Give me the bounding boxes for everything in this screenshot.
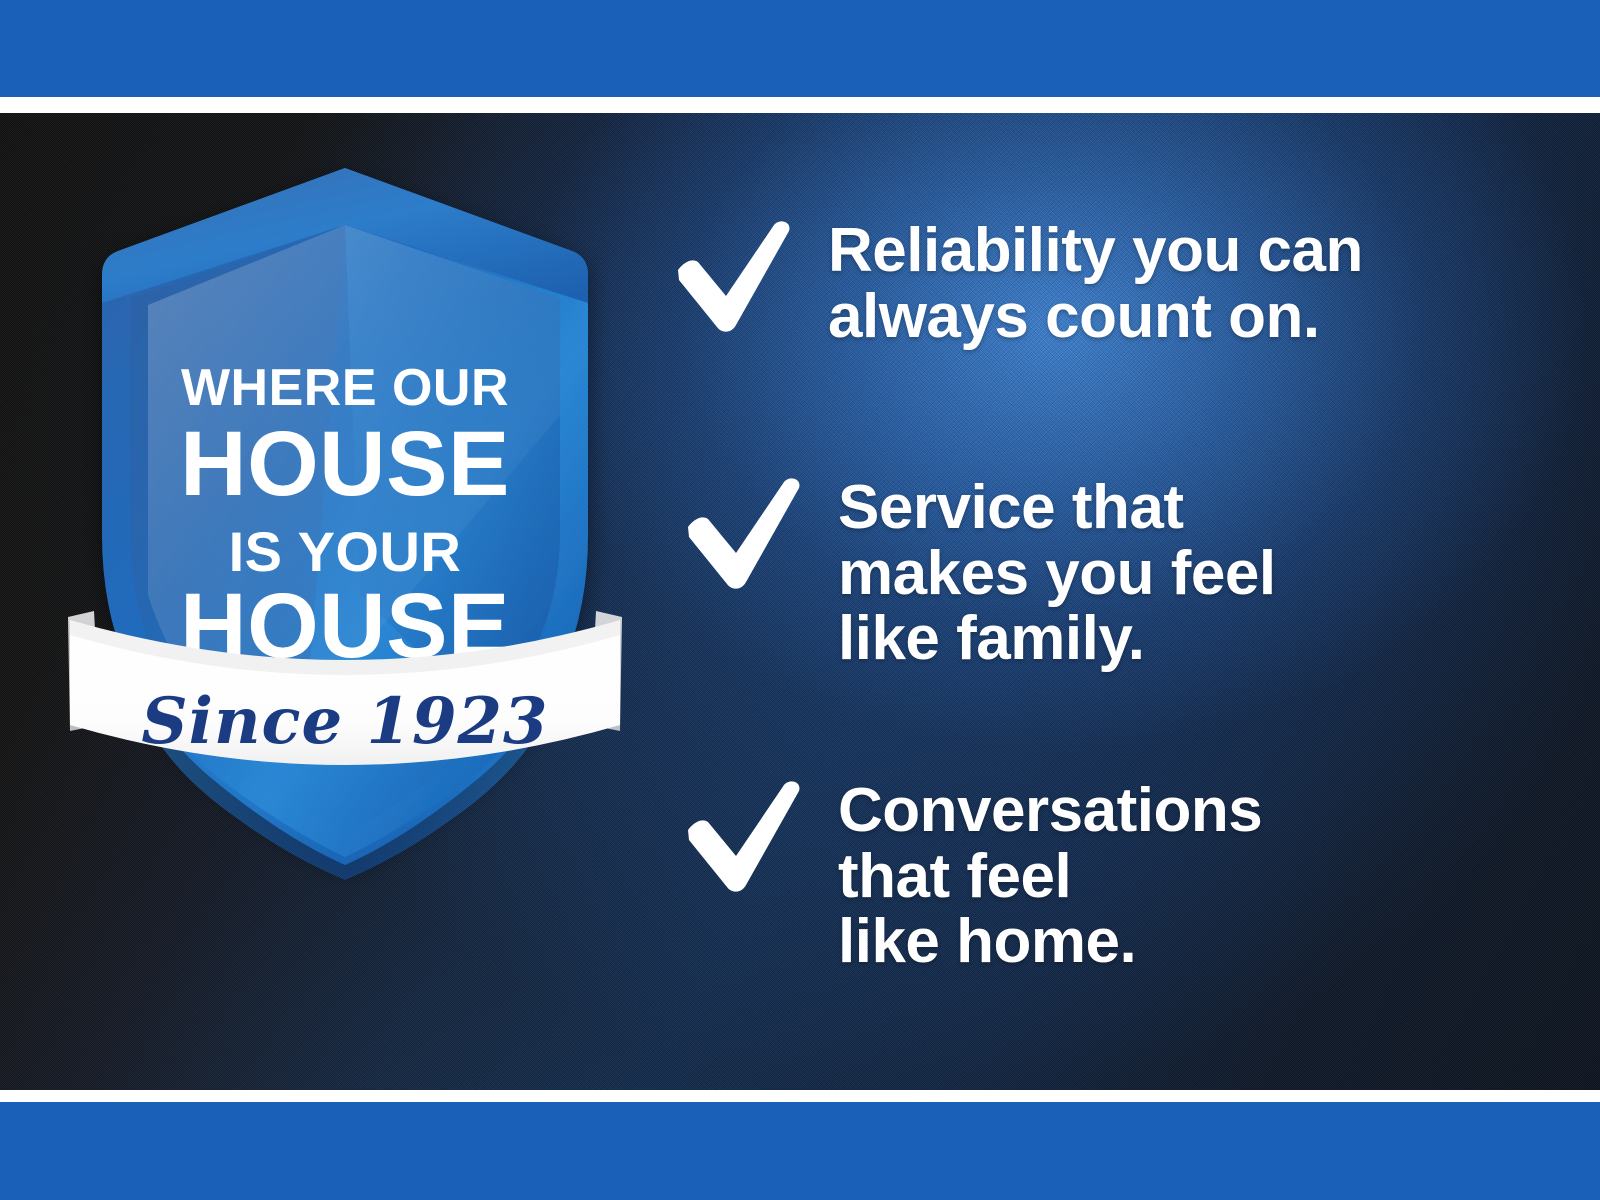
benefit-text: Service that makes you feel like family.: [838, 475, 1276, 672]
shield-logo: WHERE OUR HOUSE IS YOUR HOUSE Since 1923: [60, 165, 630, 815]
bottom-brand-bar: [0, 1102, 1600, 1200]
shield-logo-svg: WHERE OUR HOUSE IS YOUR HOUSE Since 1923: [60, 165, 630, 815]
shield-line-2: IS YOUR: [229, 520, 462, 583]
benefit-item: Reliability you can always count on.: [670, 218, 1363, 349]
check-icon: [680, 778, 810, 896]
benefit-item: Service that makes you feel like family.: [680, 475, 1276, 672]
benefits-list: Reliability you can always count on. Ser…: [670, 113, 1570, 1090]
shield-line-0: WHERE OUR: [181, 359, 509, 417]
top-white-divider: [0, 97, 1600, 113]
benefit-text: Conversations that feel like home.: [838, 778, 1262, 975]
check-icon: [680, 475, 810, 593]
promotional-poster: WHERE OUR HOUSE IS YOUR HOUSE Since 1923: [0, 0, 1600, 1200]
shield-line-1: HOUSE: [180, 413, 510, 515]
bottom-white-divider: [0, 1090, 1600, 1102]
top-brand-bar: [0, 0, 1600, 97]
benefit-item: Conversations that feel like home.: [680, 778, 1262, 975]
benefit-text: Reliability you can always count on.: [828, 218, 1363, 349]
banner-script-text: Since 1923: [141, 684, 548, 759]
check-icon: [670, 218, 800, 336]
